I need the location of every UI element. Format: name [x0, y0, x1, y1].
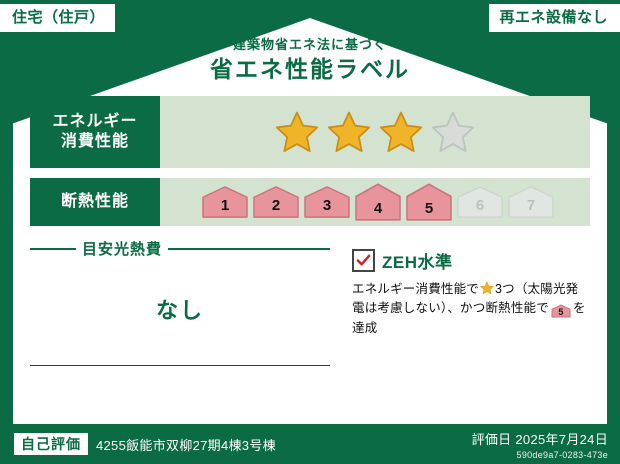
inline-chip-number: 5: [551, 304, 571, 321]
insulation-level-number: 4: [374, 201, 382, 222]
rule-left: [30, 248, 76, 250]
footer-right-group: 評価日 2025年7月24日 590de9a7-0283-473e: [472, 429, 608, 460]
insulation-level-number: 3: [323, 198, 331, 219]
estimated-cost-block: 目安光熱費 なし: [30, 238, 330, 366]
insulation-level-chip: 6: [456, 185, 504, 219]
star-icon-filled: [274, 110, 320, 154]
star-icon-empty: [430, 110, 476, 154]
badge-building-type: 住宅（住戸）: [0, 4, 115, 32]
insulation-performance-label-text: 断熱性能: [61, 192, 129, 212]
insulation-level-chip: 1: [201, 185, 249, 219]
self-evaluation-badge: 自己評価: [14, 433, 88, 455]
insulation-level-number: 7: [527, 198, 535, 219]
insulation-performance-row: 断熱性能 1234567: [30, 178, 590, 226]
insulation-level-number: 1: [221, 198, 229, 219]
insulation-level-number: 5: [425, 201, 433, 222]
page-title: 省エネ性能ラベル: [0, 58, 620, 81]
insulation-level-chip: 2: [252, 185, 300, 219]
insulation-level-number: 6: [476, 198, 484, 219]
zeh-block: ZEH水準 エネルギー消費性能で3つ（太陽光発電は考慮しない）、かつ断熱性能で5…: [330, 238, 590, 366]
roof-title-group: 建築物省エネ法に基づく 省エネ性能ラベル: [0, 38, 620, 81]
zeh-header: ZEH水準: [352, 248, 590, 273]
zeh-title: ZEH水準: [382, 248, 453, 273]
zeh-description: エネルギー消費性能で3つ（太陽光発電は考慮しない）、かつ断熱性能で5を達成: [352, 280, 590, 338]
inline-insulation-chip: 5: [551, 304, 571, 318]
energy-performance-row: エネルギー 消費性能: [30, 96, 590, 168]
estimated-cost-header: 目安光熱費: [30, 238, 330, 259]
evaluation-date: 評価日 2025年7月24日: [472, 429, 608, 448]
badge-renewable-energy: 再エネ設備なし: [489, 4, 620, 32]
insulation-level-chip: 7: [507, 185, 555, 219]
label-footer: 自己評価 4255飯能市双柳27期4棟3号棟 評価日 2025年7月24日 59…: [0, 424, 620, 464]
energy-label-card: 住宅（住戸） 再エネ設備なし 建築物省エネ法に基づく 省エネ性能ラベル エネルギ…: [0, 0, 620, 464]
estimated-cost-underline: [30, 365, 330, 366]
star-icon-filled: [378, 110, 424, 154]
energy-performance-label: エネルギー 消費性能: [30, 96, 160, 168]
insulation-level-scale: 1234567: [160, 178, 590, 226]
estimated-cost-value: なし: [30, 293, 330, 325]
star-icon-filled: [326, 110, 372, 154]
energy-performance-label-line1: エネルギー: [52, 112, 137, 132]
label-subtitle: 建築物省エネ法に基づく: [0, 38, 620, 51]
insulation-level-number: 2: [272, 198, 280, 219]
energy-star-rating: [160, 96, 590, 168]
zeh-desc-part1: エネルギー消費性能で: [352, 282, 479, 296]
evaluation-id: 590de9a7-0283-473e: [472, 450, 608, 460]
estimated-cost-title: 目安光熱費: [82, 238, 162, 259]
property-name: 4255飯能市双柳27期4棟3号棟: [96, 435, 276, 454]
insulation-level-chip: 3: [303, 185, 351, 219]
star-icon: [480, 281, 494, 295]
label-content: エネルギー 消費性能 断熱性能 1234567 目安光熱費 なし: [30, 96, 590, 366]
insulation-performance-label: 断熱性能: [30, 178, 160, 226]
zeh-checkbox[interactable]: [352, 249, 375, 272]
lower-section: 目安光熱費 なし ZEH水準 エネルギー消費性能で3つ（太陽光発電は考慮しな: [30, 238, 590, 366]
energy-performance-label-line2: 消費性能: [61, 132, 129, 152]
insulation-level-chip: 4: [354, 182, 402, 222]
insulation-level-chip: 5: [405, 182, 453, 222]
check-icon: [356, 253, 371, 268]
rule-right: [168, 248, 330, 250]
